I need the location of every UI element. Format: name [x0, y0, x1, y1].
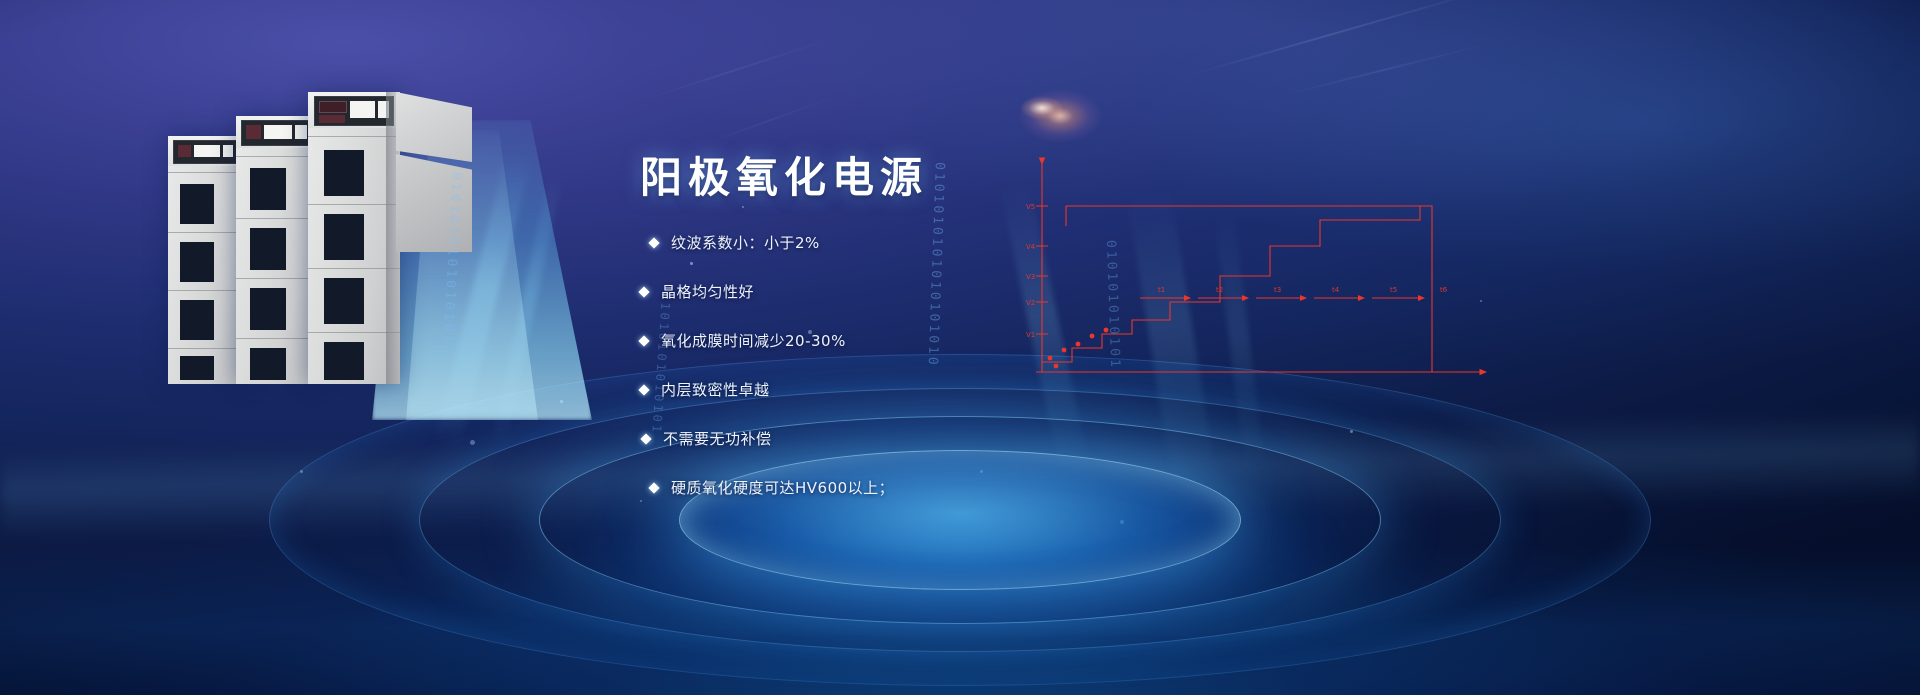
background-vignette: [0, 0, 1920, 695]
banner-stage: 0101010101010101 01010101010101 01010101…: [0, 0, 1920, 695]
